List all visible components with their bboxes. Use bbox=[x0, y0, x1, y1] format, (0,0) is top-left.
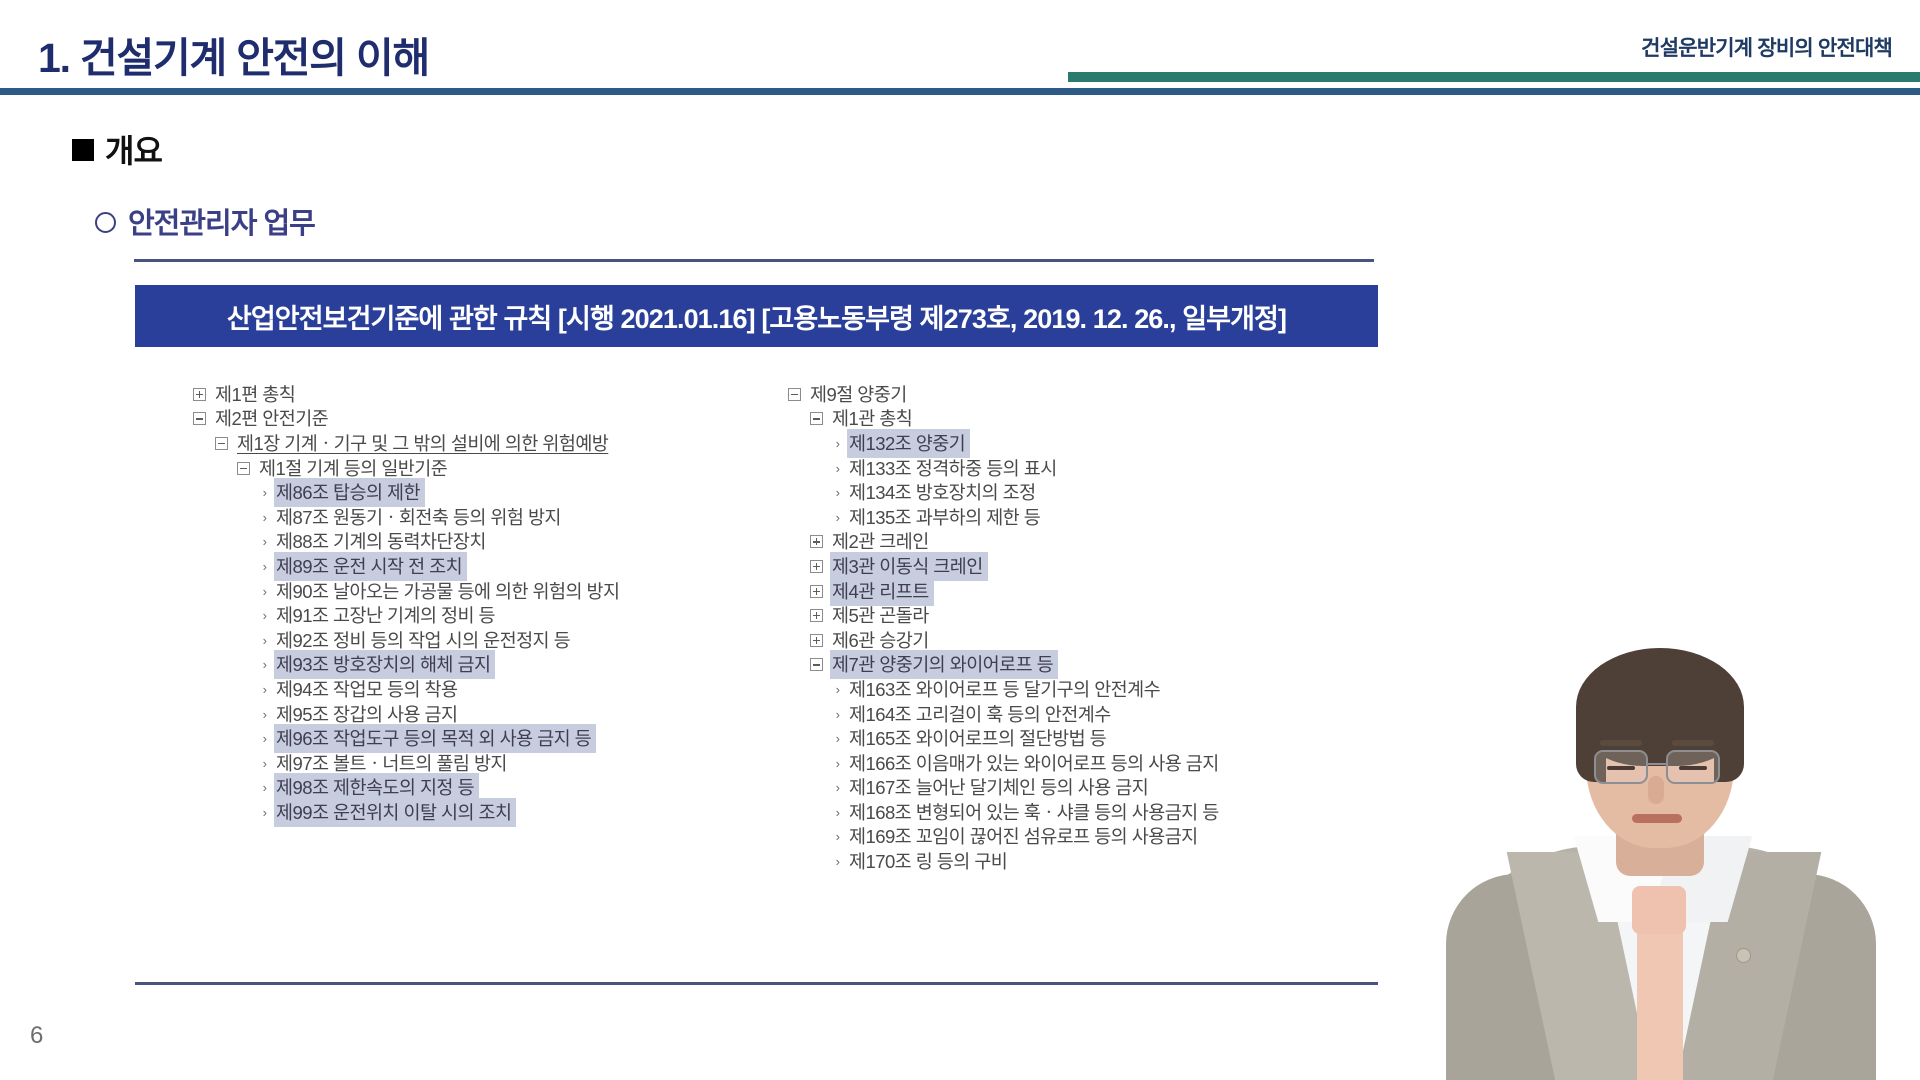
tree-item[interactable]: ›제170조 링 등의 구비 bbox=[788, 849, 1378, 874]
chevron-right-icon: › bbox=[832, 855, 843, 868]
expand-plus-icon[interactable] bbox=[193, 388, 206, 401]
header-subtitle: 건설운반기계 장비의 안전대책 bbox=[1641, 32, 1892, 62]
tree-item[interactable]: ›제165조 와이어로프의 절단방법 등 bbox=[788, 726, 1378, 751]
collapse-minus-icon[interactable] bbox=[237, 462, 250, 475]
section-heading-overview: 개요 bbox=[72, 126, 162, 172]
chevron-right-icon: › bbox=[832, 511, 843, 524]
tree-item[interactable]: ›제135조 과부하의 제한 등 bbox=[788, 505, 1378, 530]
tree-item[interactable]: ›제93조 방호장치의 해체 금지 bbox=[193, 653, 793, 678]
tree-item[interactable]: 제2관 크레인 bbox=[788, 530, 1378, 555]
tree-item[interactable]: 제7관 양중기의 와이어로프 등 bbox=[788, 653, 1378, 678]
subsection-heading-label: 안전관리자 업무 bbox=[128, 208, 315, 240]
tree-item[interactable]: ›제94조 작업모 등의 착용 bbox=[193, 677, 793, 702]
chevron-right-icon: › bbox=[259, 486, 270, 499]
chevron-right-icon: › bbox=[259, 609, 270, 622]
circle-bullet-icon bbox=[95, 212, 116, 233]
tree-item[interactable]: ›제89조 운전 시작 전 조치 bbox=[193, 554, 793, 579]
tree-item[interactable]: 제5관 곤돌라 bbox=[788, 603, 1378, 628]
presenter-eye-right bbox=[1679, 766, 1707, 770]
tree-item[interactable]: ›제168조 변형되어 있는 훅ㆍ샤클 등의 사용금지 등 bbox=[788, 800, 1378, 825]
tree-item[interactable]: ›제91조 고장난 기계의 정비 등 bbox=[193, 603, 793, 628]
tree-item[interactable]: ›제134조 방호장치의 조정 bbox=[788, 480, 1378, 505]
chevron-right-icon: › bbox=[832, 486, 843, 499]
presenter-hair bbox=[1576, 648, 1744, 766]
chevron-right-icon: › bbox=[832, 806, 843, 819]
tree-item[interactable]: ›제166조 이음매가 있는 와이어로프 등의 사용 금지 bbox=[788, 751, 1378, 776]
chevron-right-icon: › bbox=[832, 437, 843, 450]
tree-item[interactable]: ›제92조 정비 등의 작업 시의 운전정지 등 bbox=[193, 628, 793, 653]
expand-plus-icon[interactable] bbox=[810, 560, 823, 573]
tree-item[interactable]: 제1편 총칙 bbox=[193, 382, 793, 407]
chevron-right-icon: › bbox=[259, 683, 270, 696]
square-bullet-icon bbox=[72, 139, 94, 161]
expand-plus-icon[interactable] bbox=[810, 609, 823, 622]
tree-item[interactable]: ›제163조 와이어로프 등 달기구의 안전계수 bbox=[788, 677, 1378, 702]
presenter-eyebrow-right bbox=[1672, 740, 1714, 746]
tree-item[interactable]: 제6관 승강기 bbox=[788, 628, 1378, 653]
chevron-right-icon: › bbox=[259, 535, 270, 548]
tree-item[interactable]: 제1장 기계ㆍ기구 및 그 밖의 설비에 의한 위험예방 bbox=[193, 431, 793, 456]
tree-item[interactable]: ›제97조 볼트ㆍ너트의 풀림 방지 bbox=[193, 751, 793, 776]
chevron-right-icon: › bbox=[259, 511, 270, 524]
expand-plus-icon[interactable] bbox=[810, 634, 823, 647]
regulation-tree: 제1편 총칙제2편 안전기준제1장 기계ㆍ기구 및 그 밖의 설비에 의한 위험… bbox=[135, 382, 1378, 972]
chevron-right-icon: › bbox=[832, 683, 843, 696]
tree-item[interactable]: ›제88조 기계의 동력차단장치 bbox=[193, 530, 793, 555]
tree-item[interactable]: ›제132조 양중기 bbox=[788, 431, 1378, 456]
tree-item[interactable]: 제2편 안전기준 bbox=[193, 407, 793, 432]
tree-item[interactable]: 제4관 리프트 bbox=[788, 579, 1378, 604]
slide-header: 1. 건설기계 안전의 이해 건설운반기계 장비의 안전대책 bbox=[0, 0, 1920, 92]
collapse-minus-icon[interactable] bbox=[788, 388, 801, 401]
collapse-minus-icon[interactable] bbox=[810, 658, 823, 671]
regulation-banner: 산업안전보건기준에 관한 규칙 [시행 2021.01.16] [고용노동부령 … bbox=[135, 285, 1378, 347]
presenter-mouth bbox=[1632, 814, 1682, 823]
tree-item[interactable]: 제1관 총칙 bbox=[788, 407, 1378, 432]
tree-item[interactable]: ›제90조 날아오는 가공물 등에 의한 위험의 방지 bbox=[193, 579, 793, 604]
chevron-right-icon: › bbox=[259, 757, 270, 770]
collapse-minus-icon[interactable] bbox=[193, 412, 206, 425]
expand-plus-icon[interactable] bbox=[810, 535, 823, 548]
chevron-right-icon: › bbox=[259, 585, 270, 598]
collapse-minus-icon[interactable] bbox=[215, 437, 228, 450]
chevron-right-icon: › bbox=[832, 757, 843, 770]
tree-item[interactable]: ›제96조 작업도구 등의 목적 외 사용 금지 등 bbox=[193, 726, 793, 751]
tree-column-right: 제9절 양중기제1관 총칙›제132조 양중기›제133조 정격하중 등의 표시… bbox=[788, 382, 1378, 874]
presenter-tie-knot bbox=[1632, 886, 1686, 934]
content-bottom-divider bbox=[135, 982, 1378, 985]
page-title: 1. 건설기계 안전의 이해 bbox=[38, 24, 429, 84]
presenter-tie bbox=[1637, 928, 1683, 1080]
tree-item[interactable]: ›제164조 고리걸이 훅 등의 안전계수 bbox=[788, 702, 1378, 727]
chevron-right-icon: › bbox=[259, 560, 270, 573]
chevron-right-icon: › bbox=[832, 781, 843, 794]
tree-item-label: 제170조 링 등의 구비 bbox=[847, 847, 1012, 876]
presenter-figure bbox=[1404, 608, 1920, 1080]
expand-plus-icon[interactable] bbox=[810, 585, 823, 598]
presenter-glasses-bridge bbox=[1648, 763, 1666, 765]
chevron-right-icon: › bbox=[832, 830, 843, 843]
subsection-heading-safety-manager-duties: 안전관리자 업무 bbox=[95, 200, 315, 242]
presenter-eyebrow-left bbox=[1600, 740, 1642, 746]
section-heading-overview-label: 개요 bbox=[105, 133, 162, 169]
presenter-lapel-pin bbox=[1736, 948, 1751, 963]
content-top-divider bbox=[134, 259, 1374, 262]
chevron-right-icon: › bbox=[259, 634, 270, 647]
presenter-nose bbox=[1648, 776, 1664, 804]
tree-item[interactable]: ›제99조 운전위치 이탈 시의 조치 bbox=[193, 800, 793, 825]
tree-item[interactable]: 제3관 이동식 크레인 bbox=[788, 554, 1378, 579]
regulation-banner-text: 산업안전보건기준에 관한 규칙 [시행 2021.01.16] [고용노동부령 … bbox=[227, 297, 1286, 336]
page-number: 6 bbox=[30, 1022, 43, 1050]
chevron-right-icon: › bbox=[832, 732, 843, 745]
presenter-eye-left bbox=[1607, 766, 1635, 770]
tree-item-label: 제99조 운전위치 이탈 시의 조치 bbox=[274, 798, 516, 827]
collapse-minus-icon[interactable] bbox=[810, 412, 823, 425]
chevron-right-icon: › bbox=[259, 658, 270, 671]
tree-item[interactable]: 제9절 양중기 bbox=[788, 382, 1378, 407]
tree-item[interactable]: ›제167조 늘어난 달기체인 등의 사용 금지 bbox=[788, 776, 1378, 801]
tree-item[interactable]: ›제133조 정격하중 등의 표시 bbox=[788, 456, 1378, 481]
tree-item[interactable]: ›제95조 장갑의 사용 금지 bbox=[193, 702, 793, 727]
chevron-right-icon: › bbox=[832, 462, 843, 475]
header-accent-bar bbox=[1068, 72, 1920, 82]
slide-canvas: 1. 건설기계 안전의 이해 건설운반기계 장비의 안전대책 개요 안전관리자 … bbox=[0, 0, 1920, 1080]
tree-item[interactable]: ›제86조 탑승의 제한 bbox=[193, 480, 793, 505]
chevron-right-icon: › bbox=[259, 732, 270, 745]
tree-item[interactable]: ›제169조 꼬임이 끊어진 섬유로프 등의 사용금지 bbox=[788, 825, 1378, 850]
chevron-right-icon: › bbox=[832, 708, 843, 721]
presenter-video-overlay bbox=[1404, 608, 1920, 1080]
tree-item[interactable]: 제1절 기계 등의 일반기준 bbox=[193, 456, 793, 481]
header-rule-line bbox=[0, 88, 1920, 95]
chevron-right-icon: › bbox=[259, 781, 270, 794]
tree-item[interactable]: ›제98조 제한속도의 지정 등 bbox=[193, 776, 793, 801]
chevron-right-icon: › bbox=[259, 806, 270, 819]
tree-item[interactable]: ›제87조 원동기ㆍ회전축 등의 위험 방지 bbox=[193, 505, 793, 530]
chevron-right-icon: › bbox=[259, 708, 270, 721]
tree-column-left: 제1편 총칙제2편 안전기준제1장 기계ㆍ기구 및 그 밖의 설비에 의한 위험… bbox=[193, 382, 793, 825]
